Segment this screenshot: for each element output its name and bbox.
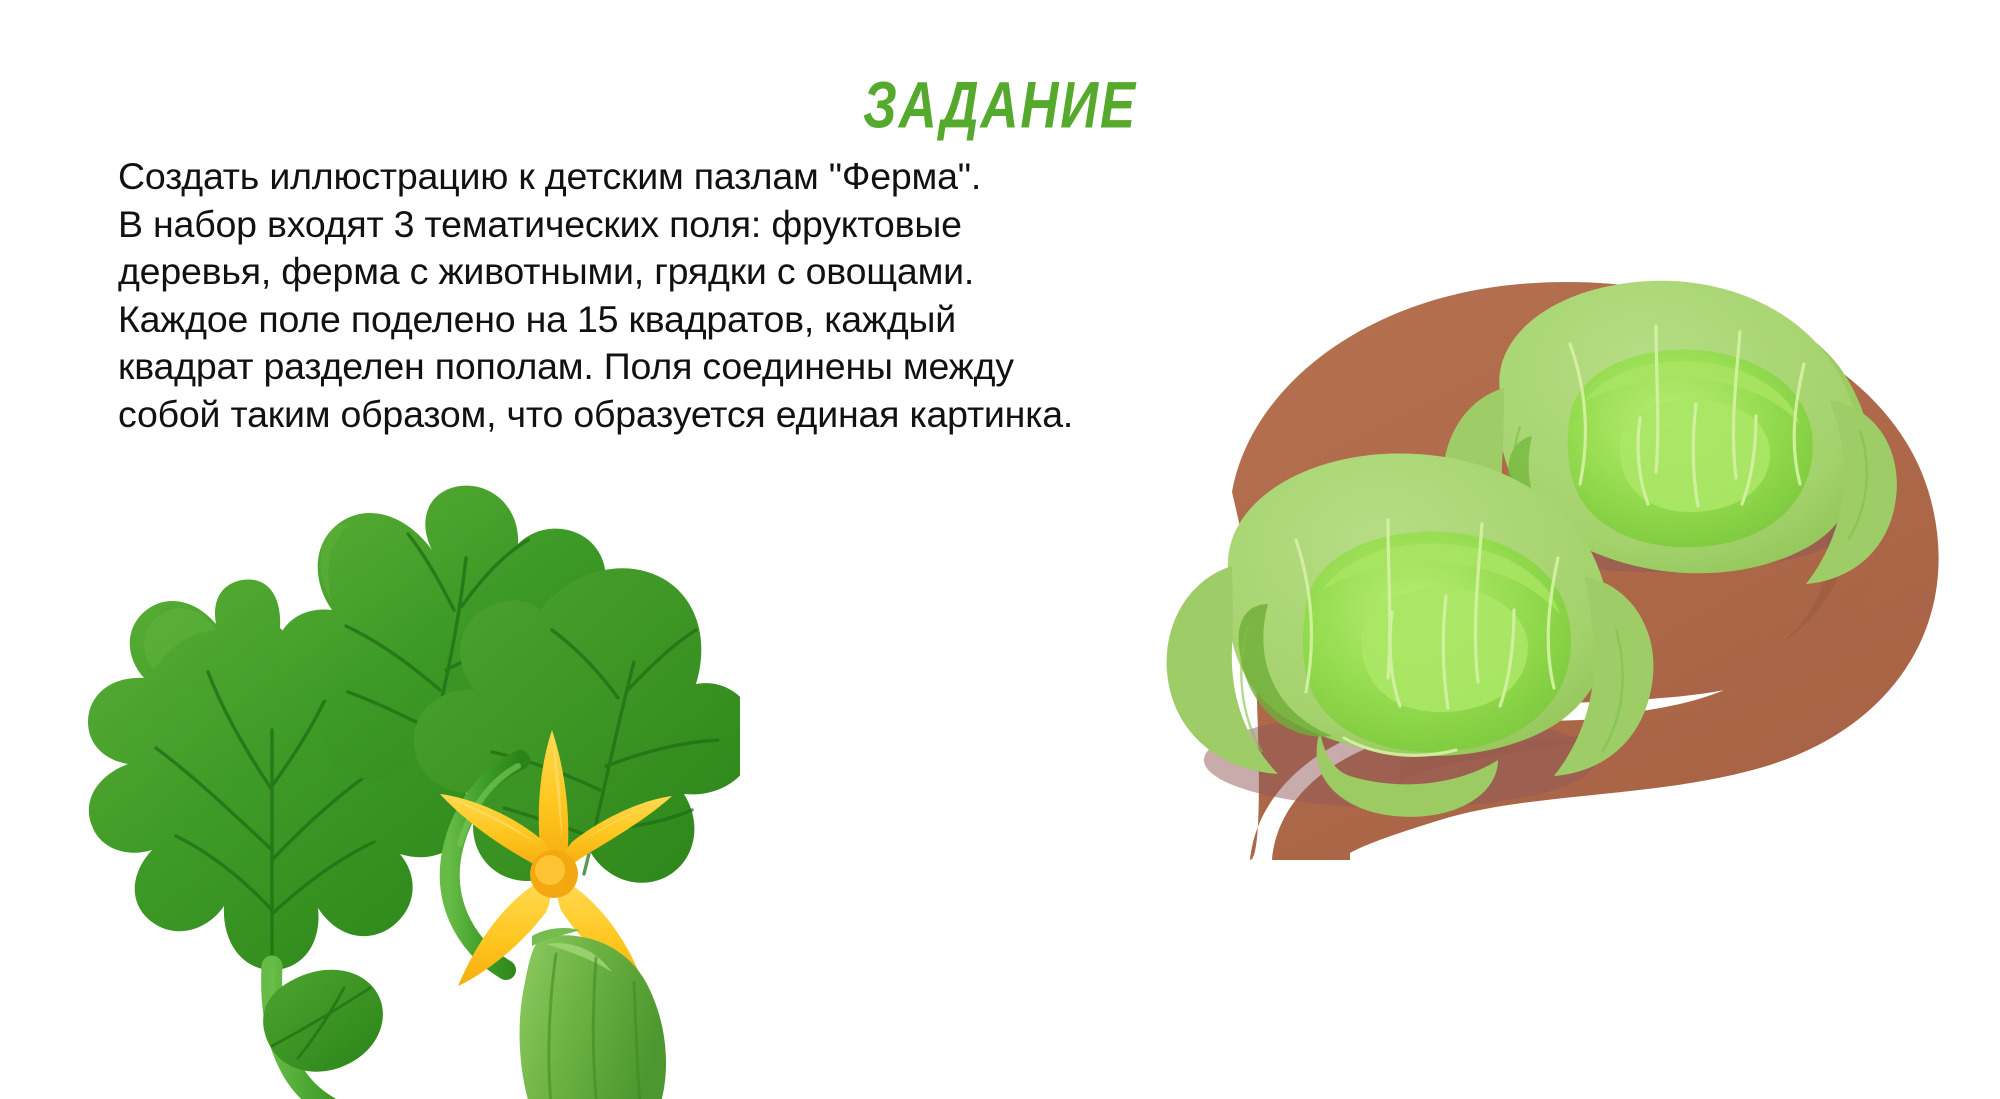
- cucumber-plant-illustration: [0, 430, 740, 1099]
- page-title: ЗАДАНИЕ: [60, 66, 1940, 143]
- leaf-small-side: [263, 970, 383, 1072]
- leaf-left: [88, 579, 470, 970]
- description-line: деревья, ферма с животными, грядки с ово…: [118, 248, 1238, 296]
- description-line: собой таким образом, что образуется един…: [118, 391, 1238, 439]
- flower-center-highlight: [535, 855, 565, 885]
- cabbage-shadow: [1204, 712, 1596, 808]
- flower-petal: [440, 794, 550, 866]
- flower-petal: [458, 884, 550, 986]
- cucumber-fruit: [520, 928, 666, 1099]
- slide-canvas: ЗАДАНИЕ Создать иллюстрацию к детским па…: [0, 0, 2000, 1099]
- flower-center: [530, 850, 578, 898]
- description-line: Создать иллюстрацию к детским пазлам "Фе…: [118, 153, 1238, 201]
- description-line: В набор входят 3 тематических поля: фрук…: [118, 201, 1238, 249]
- cabbage-shadow: [1474, 484, 1846, 572]
- cabbage-upper: [1443, 281, 1897, 584]
- soil-bed: [1232, 282, 1939, 860]
- description-line: Каждое поле поделено на 15 квадратов, ка…: [118, 296, 1238, 344]
- flower-petal: [539, 730, 569, 864]
- flower-petal: [563, 796, 672, 866]
- description-line: квадрат разделен пополам. Поля соединены…: [118, 343, 1238, 391]
- stem-flower: [450, 760, 520, 970]
- cabbage-lower: [1167, 453, 1654, 816]
- cucumber-flower: [440, 730, 672, 990]
- leaf-top: [276, 486, 613, 789]
- flower-petal: [558, 885, 646, 990]
- stem-left: [272, 966, 386, 1099]
- task-description-text: Создать иллюстрацию к детским пазлам "Фе…: [118, 153, 1238, 438]
- leaf-right: [414, 568, 740, 883]
